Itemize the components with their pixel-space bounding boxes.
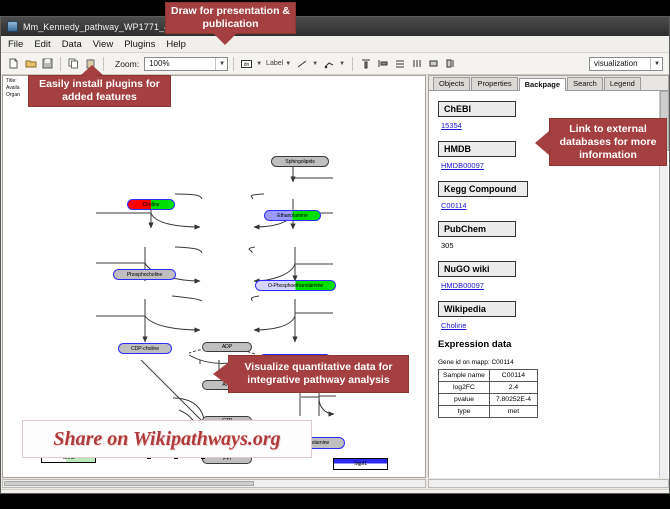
chevron-down-icon[interactable]: ▼ — [650, 58, 660, 70]
callout-link-stem — [546, 136, 552, 149]
distribute-vertical-icon[interactable] — [392, 56, 407, 71]
cell-label: pvalue — [439, 394, 490, 406]
db-header-nugo-wiki: NuGO wiki — [438, 261, 516, 277]
metabolite-node[interactable]: Phosphocholine — [113, 269, 176, 280]
menu-item-data[interactable]: Data — [62, 39, 82, 50]
cell-value: 2.4 — [489, 382, 537, 394]
status-text: | Gene database: ...m_Derby_20120602.bri… — [5, 493, 421, 495]
chevron-down-icon[interactable]: ▼ — [285, 61, 291, 67]
cell-value: met — [489, 406, 537, 418]
toolbar-separator — [60, 57, 61, 71]
metabolite-node[interactable]: CDP-choline — [118, 343, 172, 354]
status-bar: | Gene database: ...m_Derby_20120602.bri… — [1, 489, 670, 494]
line-tool-icon[interactable] — [295, 56, 310, 71]
toolbar-separator — [103, 57, 104, 71]
menu-item-plugins[interactable]: Plugins — [124, 39, 155, 50]
menu-item-help[interactable]: Help — [166, 39, 186, 50]
send-to-back-icon[interactable] — [443, 56, 458, 71]
db-header-wikipedia: Wikipedia — [438, 301, 516, 317]
align-left-icon[interactable] — [375, 56, 390, 71]
new-file-icon[interactable] — [6, 56, 21, 71]
zoom-value: 100% — [149, 59, 169, 68]
chevron-down-icon[interactable]: ▼ — [339, 61, 345, 67]
callout-link-databases: Link to external databases for more info… — [549, 118, 667, 166]
gene-node[interactable]: Sgpl1 — [333, 458, 388, 470]
cofactor-node[interactable]: ADP — [202, 342, 252, 352]
canvas-horizontal-scrollbar[interactable] — [2, 479, 426, 488]
menu-bar: File Edit Data View Plugins Help — [1, 36, 670, 53]
zoom-combo[interactable]: 100% ▼ — [144, 57, 228, 71]
gene-id-line: Gene id on mapp: C00114 — [438, 359, 670, 366]
label-tool-label[interactable]: Label — [266, 60, 283, 67]
cell-label: type — [439, 406, 490, 418]
save-icon[interactable] — [40, 56, 55, 71]
callout-visualize-stem — [226, 367, 232, 380]
toolbar-separator — [233, 57, 234, 71]
metabolite-node[interactable]: Choline — [127, 199, 175, 210]
db-link-nugo-wiki[interactable]: HMDB00097 — [441, 281, 670, 290]
toolbar-separator — [352, 57, 353, 71]
menu-item-edit[interactable]: Edit — [34, 39, 50, 50]
metabolite-node[interactable]: O-Phosphoethanolamine — [255, 280, 336, 291]
side-panel-tabs: Objects Properties Backpage Search Legen… — [429, 76, 668, 91]
tab-search[interactable]: Search — [567, 77, 603, 90]
callout-share: Share on Wikipathways.org — [22, 420, 312, 458]
cell-value: C00114 — [489, 370, 537, 382]
chevron-down-icon[interactable]: ▼ — [215, 58, 225, 70]
visualization-combo[interactable]: visualization ▼ — [589, 57, 663, 71]
title-bar: Mm_Kennedy_pathway_WP1771_45176.gpml — [1, 17, 670, 36]
callout-share-text: Share on Wikipathways.org — [53, 428, 280, 451]
metabolite-node[interactable]: Sphingolipids — [271, 156, 329, 167]
tab-backpage[interactable]: Backpage — [519, 78, 566, 91]
chevron-down-icon[interactable]: ▼ — [312, 61, 318, 67]
callout-plugins: Easily install plugins for added feature… — [28, 75, 171, 107]
menu-item-file[interactable]: File — [8, 39, 23, 50]
callout-draw-stem — [222, 33, 228, 39]
svg-text:dn: dn — [244, 62, 250, 68]
open-folder-icon[interactable] — [23, 56, 38, 71]
table-row: type met — [439, 406, 538, 418]
table-row: pvalue 7.80252E-4 — [439, 394, 538, 406]
datanode-icon[interactable]: dn — [239, 56, 254, 71]
callout-visualize: Visualize quantitative data for integrat… — [228, 355, 409, 393]
db-value-pubchem: 305 — [441, 241, 670, 250]
cell-value: 7.80252E-4 — [489, 394, 537, 406]
distribute-horizontal-icon[interactable] — [409, 56, 424, 71]
tab-objects[interactable]: Objects — [433, 77, 470, 90]
interaction-tool-icon[interactable] — [322, 56, 337, 71]
db-header-hmdb: HMDB — [438, 141, 516, 157]
pathway-canvas[interactable]: Title: Availa Organ — [2, 75, 426, 478]
tab-properties[interactable]: Properties — [471, 77, 517, 90]
db-link-kegg-compound[interactable]: C00114 — [441, 201, 670, 210]
callout-draw: Draw for presentation & publication — [165, 2, 296, 34]
menu-item-view[interactable]: View — [93, 39, 113, 50]
chevron-down-icon[interactable]: ▼ — [256, 61, 262, 67]
table-row: log2FC 2.4 — [439, 382, 538, 394]
app-icon — [7, 21, 18, 32]
copy-icon[interactable] — [66, 56, 81, 71]
cell-label: Sample name — [439, 370, 490, 382]
cell-label: log2FC — [439, 382, 490, 394]
db-header-chebi: ChEBI — [438, 101, 516, 117]
visualization-value: visualization — [594, 59, 638, 68]
expression-data-table: Sample name C00114 log2FC 2.4 pvalue 7.8… — [438, 369, 538, 418]
expression-data-title: Expression data — [438, 339, 670, 350]
metabolite-node[interactable]: Ethanolamine — [264, 210, 321, 221]
bring-to-front-icon[interactable] — [426, 56, 441, 71]
align-top-icon[interactable] — [358, 56, 373, 71]
side-panel-horizontal-scrollbar[interactable] — [428, 479, 669, 488]
db-header-kegg-compound: Kegg Compound — [438, 181, 528, 197]
table-row: Sample name C00114 — [439, 370, 538, 382]
tab-legend[interactable]: Legend — [604, 77, 641, 90]
scrollbar-thumb[interactable] — [4, 481, 254, 486]
db-link-wikipedia[interactable]: Choline — [441, 321, 670, 330]
zoom-label: Zoom: — [115, 59, 139, 69]
db-header-pubchem: PubChem — [438, 221, 516, 237]
callout-plugins-stem — [87, 70, 95, 78]
